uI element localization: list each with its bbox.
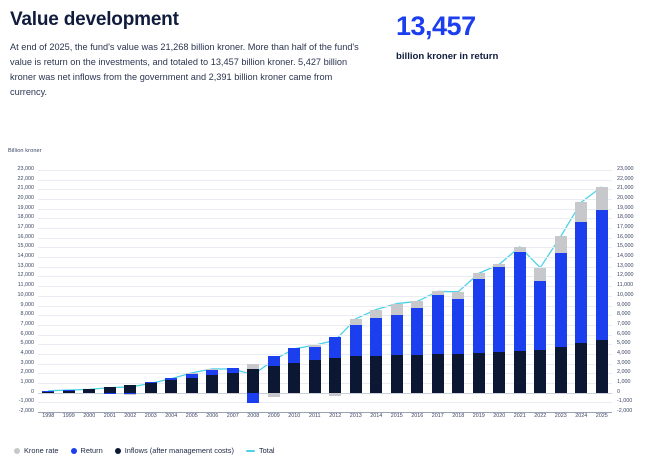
bar-segment-krone-rate <box>575 202 587 221</box>
legend-item-inflows-dot[interactable]: Inflows (after management costs) <box>115 446 234 455</box>
bar-segment-krone-rate <box>452 292 464 300</box>
bar-segment-return <box>596 210 608 340</box>
bar-segment-inflows <box>186 378 198 392</box>
bar-segment-krone-rate <box>186 373 198 374</box>
bar-segment-inflows <box>473 353 485 392</box>
bar-segment-inflows <box>452 354 464 393</box>
y-axis-tick-left: 19,000 <box>18 206 35 211</box>
bar-segment-krone-rate <box>145 393 157 394</box>
value-development-chart: Billion kroner 23,00022,00021,00020,0001… <box>0 142 655 467</box>
legend-item-krone-rate-dot[interactable]: Krone rate <box>14 446 59 455</box>
bar-2007[interactable] <box>227 170 239 412</box>
bar-segment-return <box>309 347 321 361</box>
y-axis-tick-right: 16,000 <box>617 235 634 240</box>
y-axis-tick-left: 5,000 <box>21 341 35 346</box>
y-axis-tick-left: 17,000 <box>18 225 35 230</box>
y-axis-tick-left: 20,000 <box>18 196 35 201</box>
y-axis-tick-right: 12,000 <box>617 273 634 278</box>
bar-segment-inflows <box>596 340 608 393</box>
y-axis-tick-left: 16,000 <box>18 235 35 240</box>
inflows-dot-icon <box>115 448 121 454</box>
bar-segment-inflows <box>514 351 526 393</box>
bar-segment-krone-rate <box>432 291 444 294</box>
y-axis-tick-left: 18,000 <box>18 215 35 220</box>
bar-2012[interactable] <box>329 170 341 412</box>
bar-2022[interactable] <box>534 170 546 412</box>
bar-segment-return <box>227 368 239 373</box>
kpi-block: 13,457 billion kroner in return <box>382 10 645 100</box>
bar-segment-krone-rate <box>247 364 259 369</box>
intro-paragraph: At end of 2025, the fund's value was 21,… <box>10 40 368 100</box>
bar-segment-return <box>104 393 116 394</box>
bar-2000[interactable] <box>83 170 95 412</box>
bar-segment-inflows <box>165 380 177 392</box>
y-axis-tick-left: 14,000 <box>18 254 35 259</box>
bar-segment-return <box>288 348 300 363</box>
bar-segment-inflows <box>145 383 157 393</box>
y-axis-tick-right: 8,000 <box>617 312 631 317</box>
bar-2003[interactable] <box>145 170 157 412</box>
bar-segment-return <box>370 318 382 356</box>
bar-segment-return <box>411 308 423 355</box>
legend-label: Krone rate <box>24 446 59 455</box>
bar-2024[interactable] <box>575 170 587 412</box>
page-header: Value development At end of 2025, the fu… <box>0 0 655 100</box>
bar-segment-krone-rate <box>473 273 485 278</box>
bar-segment-krone-rate <box>555 236 567 252</box>
bar-2008[interactable] <box>247 170 259 412</box>
y-axis-tick-right: 7,000 <box>617 322 631 327</box>
y-axis-tick-right: 17,000 <box>617 225 634 230</box>
bar-2006[interactable] <box>206 170 218 412</box>
y-axis-tick-right: 4,000 <box>617 351 631 356</box>
y-axis-tick-left: 22,000 <box>18 177 35 182</box>
bar-segment-inflows <box>575 343 587 392</box>
bar-segment-inflows <box>370 356 382 393</box>
plot-wrapper: 23,00022,00021,00020,00019,00018,00017,0… <box>0 156 655 408</box>
y-axis-tick-right: 18,000 <box>617 215 634 220</box>
bar-2009[interactable] <box>268 170 280 412</box>
legend-label: Total <box>259 446 275 455</box>
bar-segment-return <box>575 222 587 344</box>
bar-segment-inflows <box>309 360 321 392</box>
legend-label: Inflows (after management costs) <box>125 446 234 455</box>
bar-segment-krone-rate <box>493 264 505 267</box>
bar-2013[interactable] <box>350 170 362 412</box>
chart-legend: Krone rateReturnInflows (after managemen… <box>14 446 282 455</box>
bar-segment-inflows <box>247 369 259 392</box>
bar-segment-krone-rate <box>329 393 341 396</box>
y-axis-tick-right: 10,000 <box>617 293 634 298</box>
bar-2021[interactable] <box>514 170 526 412</box>
bar-segment-krone-rate <box>534 268 546 281</box>
y-axis-tick-right: 15,000 <box>617 244 634 249</box>
y-axis-tick-left: 3,000 <box>21 361 35 366</box>
bar-segment-inflows <box>350 356 362 392</box>
y-axis-tick-left: -2,000 <box>19 409 34 414</box>
y-axis-tick-right: 2,000 <box>617 370 631 375</box>
y-axis-tick-left: 10,000 <box>18 293 35 298</box>
y-axis-tick-left: 6,000 <box>21 332 35 337</box>
bar-2004[interactable] <box>165 170 177 412</box>
bar-segment-return <box>452 299 464 353</box>
kpi-value: 13,457 <box>396 13 645 40</box>
y-axis-tick-left: 13,000 <box>18 264 35 269</box>
bar-segment-return <box>145 382 157 383</box>
bar-segment-return <box>432 295 444 355</box>
bar-2025[interactable] <box>596 170 608 412</box>
bar-segment-krone-rate <box>596 187 608 210</box>
y-axis-tick-left: 11,000 <box>18 283 34 288</box>
y-axis-tick-right: 13,000 <box>617 264 634 269</box>
bar-1999[interactable] <box>63 170 75 412</box>
y-axis-tick-right: 5,000 <box>617 341 631 346</box>
bar-1998[interactable] <box>42 170 54 412</box>
bar-segment-inflows <box>63 390 75 392</box>
bar-2016[interactable] <box>411 170 423 412</box>
bar-segment-inflows <box>493 352 505 393</box>
y-axis-tick-right: 0 <box>617 390 620 395</box>
bar-2017[interactable] <box>432 170 444 412</box>
y-axis-tick-right: 20,000 <box>617 196 634 201</box>
legend-label: Return <box>81 446 103 455</box>
y-axis-tick-right: 6,000 <box>617 332 631 337</box>
bar-segment-krone-rate <box>350 319 362 325</box>
bar-segment-inflows <box>432 354 444 392</box>
bar-segment-krone-rate <box>227 393 239 394</box>
bar-segment-inflows <box>227 373 239 393</box>
bar-segment-return <box>493 267 505 352</box>
y-axis-tick-right: 14,000 <box>617 254 634 259</box>
bar-segment-krone-rate <box>309 345 321 346</box>
y-axis-tick-left: 15,000 <box>18 244 35 249</box>
y-axis-tick-right: -2,000 <box>617 409 632 414</box>
bar-segment-return <box>473 279 485 354</box>
y-axis-tick-left: 4,000 <box>21 351 35 356</box>
bar-segment-krone-rate <box>370 310 382 319</box>
bar-segment-return <box>206 369 218 375</box>
bar-segment-krone-rate <box>514 247 526 252</box>
bar-2014[interactable] <box>370 170 382 412</box>
krone-rate-dot-icon <box>14 448 20 454</box>
bar-segment-inflows <box>268 366 280 393</box>
bar-segment-return <box>534 281 546 351</box>
bar-2002[interactable] <box>124 170 136 412</box>
bar-2011[interactable] <box>309 170 321 412</box>
bar-segment-inflows <box>534 350 546 392</box>
bar-segment-return <box>268 356 280 366</box>
x-axis-tick-2025: 2025 <box>589 414 615 419</box>
y-axis-tick-left: 7,000 <box>21 322 35 327</box>
y-axis-tick-left: 8,000 <box>21 312 35 317</box>
bar-segment-krone-rate <box>288 393 300 394</box>
return-dot-icon <box>71 448 77 454</box>
legend-item-total-line[interactable]: Total <box>246 446 275 455</box>
y-axis-tick-left: 12,000 <box>18 273 35 278</box>
y-axis-tick-right: 19,000 <box>617 206 634 211</box>
bar-2001[interactable] <box>104 170 116 412</box>
y-axis-tick-right: 21,000 <box>617 186 634 191</box>
y-axis-tick-left: 1,000 <box>21 380 35 385</box>
bar-segment-return <box>350 325 362 356</box>
bar-segment-krone-rate <box>165 393 177 394</box>
bar-segment-return <box>247 393 259 403</box>
y-axis-tick-right: 11,000 <box>617 283 633 288</box>
plot-area <box>38 170 612 412</box>
y-axis-tick-left: 21,000 <box>18 186 35 191</box>
y-axis-title: Billion kroner <box>8 148 42 154</box>
bar-segment-return <box>165 378 177 380</box>
bar-segment-inflows <box>206 375 218 392</box>
bar-segment-krone-rate <box>268 393 280 397</box>
bar-segment-return <box>186 374 198 378</box>
bar-segment-krone-rate <box>391 304 403 315</box>
legend-item-return-dot[interactable]: Return <box>71 446 103 455</box>
bar-segment-return <box>514 252 526 351</box>
bar-segment-inflows <box>42 391 54 393</box>
y-axis-tick-left: 23,000 <box>18 167 35 172</box>
y-axis-tick-right: 22,000 <box>617 177 634 182</box>
bar-2015[interactable] <box>391 170 403 412</box>
bar-segment-return <box>555 253 567 347</box>
bar-2023[interactable] <box>555 170 567 412</box>
bar-2018[interactable] <box>452 170 464 412</box>
y-axis-tick-right: 3,000 <box>617 361 631 366</box>
y-axis-tick-right: 1,000 <box>617 380 631 385</box>
bar-2020[interactable] <box>493 170 505 412</box>
bar-segment-krone-rate <box>411 301 423 308</box>
y-axis-tick-right: 9,000 <box>617 303 631 308</box>
bar-segment-krone-rate <box>206 369 218 370</box>
bar-segment-inflows <box>329 358 341 393</box>
y-axis-tick-left: 2,000 <box>21 370 35 375</box>
header-text-column: Value development At end of 2025, the fu… <box>10 10 382 100</box>
total-line-icon <box>246 450 255 452</box>
bar-segment-return <box>391 315 403 355</box>
bar-segment-inflows <box>124 385 136 393</box>
y-axis-tick-left: 9,000 <box>21 303 35 308</box>
bar-segment-return <box>329 337 341 357</box>
bar-segment-inflows <box>411 355 423 393</box>
bar-segment-inflows <box>288 363 300 393</box>
kpi-label: billion kroner in return <box>396 51 645 62</box>
bar-segment-inflows <box>555 347 567 393</box>
y-axis-tick-right: 23,000 <box>617 167 634 172</box>
y-axis-tick-left: 0 <box>31 390 34 395</box>
bar-segment-inflows <box>391 355 403 392</box>
y-axis-tick-right: -1,000 <box>617 399 632 404</box>
page-title: Value development <box>10 10 368 31</box>
bar-2005[interactable] <box>186 170 198 412</box>
bar-2010[interactable] <box>288 170 300 412</box>
y-axis-tick-left: -1,000 <box>19 399 34 404</box>
bar-2019[interactable] <box>473 170 485 412</box>
